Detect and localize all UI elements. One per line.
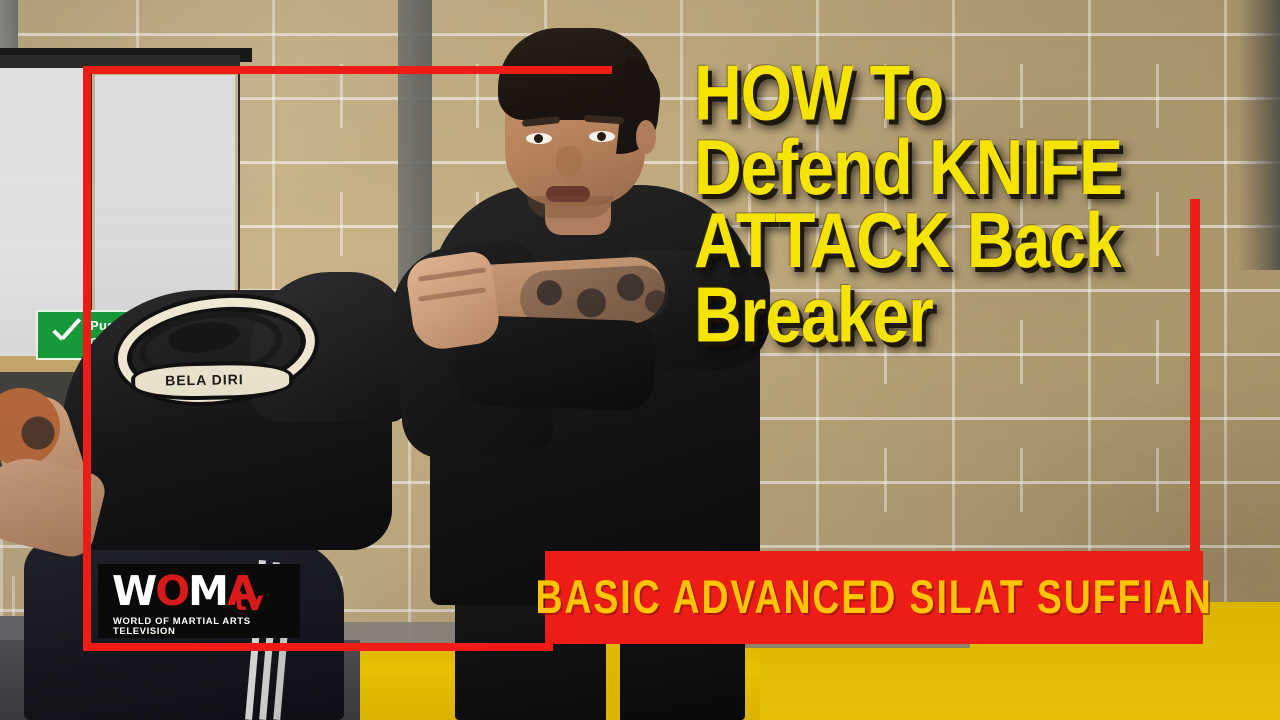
logo-letter-o: O (155, 567, 188, 615)
checkmark-icon (46, 319, 84, 349)
instructor-eye (589, 131, 615, 142)
wall-shadow-right (1238, 0, 1280, 270)
instructor-ear (636, 120, 656, 154)
instructor-eye (526, 133, 552, 144)
subtitle-banner-text: BASIC ADVANCED SILAT SUFFIAN (558, 541, 1190, 654)
red-frame-left (83, 66, 91, 651)
title-line-4: Breaker (694, 278, 1214, 352)
thumbnail-title: HOW To Defend KNIFE ATTACK Back Breaker (694, 56, 1214, 352)
emblem-banner: BELA DIRI (135, 364, 290, 397)
title-line-1: HOW To (694, 56, 1214, 130)
video-thumbnail: Push bar to open BELA DIRI (0, 0, 1280, 720)
logo-letter-w: W (112, 567, 155, 615)
red-frame-top (83, 66, 612, 74)
student-tattoo (18, 412, 58, 454)
red-frame-bottom (83, 643, 553, 651)
logo-tv-suffix: tv (234, 586, 263, 617)
logo-tagline: WORLD OF MARTIAL ARTS TELEVISION (113, 616, 309, 636)
woma-tv-logo: WOMA tv WORLD OF MARTIAL ARTS TELEVISION (98, 564, 300, 638)
instructor-chin (527, 196, 613, 218)
shirt-emblem: BELA DIRI (102, 284, 315, 425)
logo-letter-m: M (188, 567, 227, 615)
title-line-2: Defend KNIFE (694, 130, 1214, 204)
instructor-nose (556, 146, 582, 178)
subtitle-banner: BASIC ADVANCED SILAT SUFFIAN (545, 551, 1203, 644)
title-line-3: ATTACK Back (694, 204, 1214, 278)
emblem-text: BELA DIRI (165, 371, 244, 388)
